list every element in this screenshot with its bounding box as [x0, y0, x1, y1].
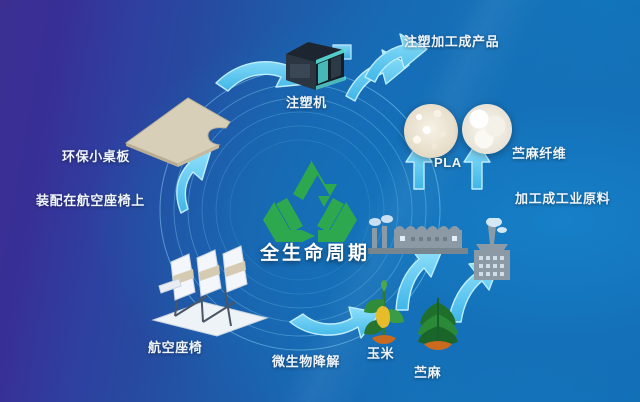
ramie-fiber-image	[462, 104, 512, 154]
ramie-plant-art	[412, 296, 464, 352]
lifecycle-infographic: 注塑机 环保小桌板 装配在航空座椅上 航空座椅 微生物降解 玉米 苎麻 PLA …	[0, 0, 640, 402]
label-ramie-plant: 苎麻	[414, 362, 441, 381]
tray-table-art	[118, 88, 233, 168]
recycle-icon	[258, 158, 364, 242]
corn-plant-art	[362, 280, 408, 348]
center-title: 全生命周期	[260, 238, 370, 265]
pla-pellets-image	[404, 104, 458, 158]
injection-machine-art	[278, 36, 350, 96]
label-pla: PLA	[434, 155, 462, 170]
factory-art	[366, 214, 474, 270]
label-assemble-on-seat: 装配在航空座椅上	[36, 190, 145, 209]
label-corn: 玉米	[367, 343, 394, 362]
label-to-raw-material: 加工成工业原料	[515, 188, 610, 207]
label-injection-machine: 注塑机	[286, 92, 327, 111]
label-ramie-fiber: 苎麻纤维	[512, 143, 566, 162]
label-to-product: 注塑加工成产品	[404, 31, 499, 50]
label-tray-table: 环保小桌板	[62, 146, 130, 165]
label-biodegrade: 微生物降解	[272, 351, 340, 370]
aircraft-seat-art	[145, 232, 275, 340]
power-plant-art	[460, 218, 520, 288]
label-aircraft-seat: 航空座椅	[148, 337, 202, 356]
